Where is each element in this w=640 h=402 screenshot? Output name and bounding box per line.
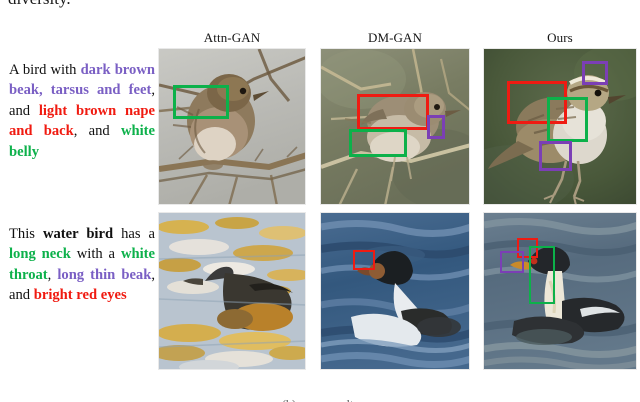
photo-sparrow-dm-gan [321,49,469,204]
photo-sparrow-ours [484,49,636,204]
photo-svg [484,213,637,370]
column-header-ours: Ours [483,30,637,46]
column-header-attn-gan: Attn-GAN [158,30,306,46]
bbox-dark-brown-beak [582,61,608,85]
caption-token: long neck [9,246,71,262]
bbox-light-brown-nape-and-back [357,94,429,130]
bbox-white-belly [173,85,229,119]
image-cell-waterbird-attn-gan [158,212,306,370]
clipped-caption-bottom: (b) more results [0,397,640,402]
image-cell-sparrow-attn-gan [158,48,306,205]
bbox-bright-red-eyes [353,250,375,270]
bbox-white-belly [547,97,588,142]
photo-svg [159,213,306,370]
qualitative-comparison-figure: Attn-GAN DM-GAN Ours A bird with dark br… [0,0,640,402]
bbox-white-throat [529,246,555,304]
image-cell-waterbird-dm-gan [320,212,470,370]
photo-sparrow-attn-gan [159,49,305,204]
bbox-dark-brown-beak [427,115,445,139]
photo-waterbird-dm-gan [321,213,469,369]
caption-token: with a [71,246,121,262]
caption-row-sparrow: A bird with dark brown beak, tarsus and … [9,60,155,162]
photo-svg [321,213,470,370]
image-cell-sparrow-ours [483,48,637,205]
caption-token: long thin beak [57,267,151,283]
caption-token: , [48,267,58,283]
caption-token: water bird [43,226,113,242]
caption-row-waterbird: This water bird has a long neck with a w… [9,224,155,306]
caption-token: This [9,226,43,242]
bbox-white-belly [349,129,407,157]
image-cell-waterbird-ours [483,212,637,370]
caption-token: has a [113,226,155,242]
image-cell-sparrow-dm-gan [320,48,470,205]
caption-token: A bird with [9,62,81,78]
photo-waterbird-attn-gan [159,213,305,369]
photo-svg [159,49,306,205]
column-header-dm-gan: DM-GAN [320,30,470,46]
caption-token: , and [74,123,121,139]
photo-waterbird-ours [484,213,636,369]
caption-token: bright red eyes [34,287,127,303]
bbox-tarsus-and-feet [539,141,572,171]
bbox-long-thin-beak [500,251,524,273]
